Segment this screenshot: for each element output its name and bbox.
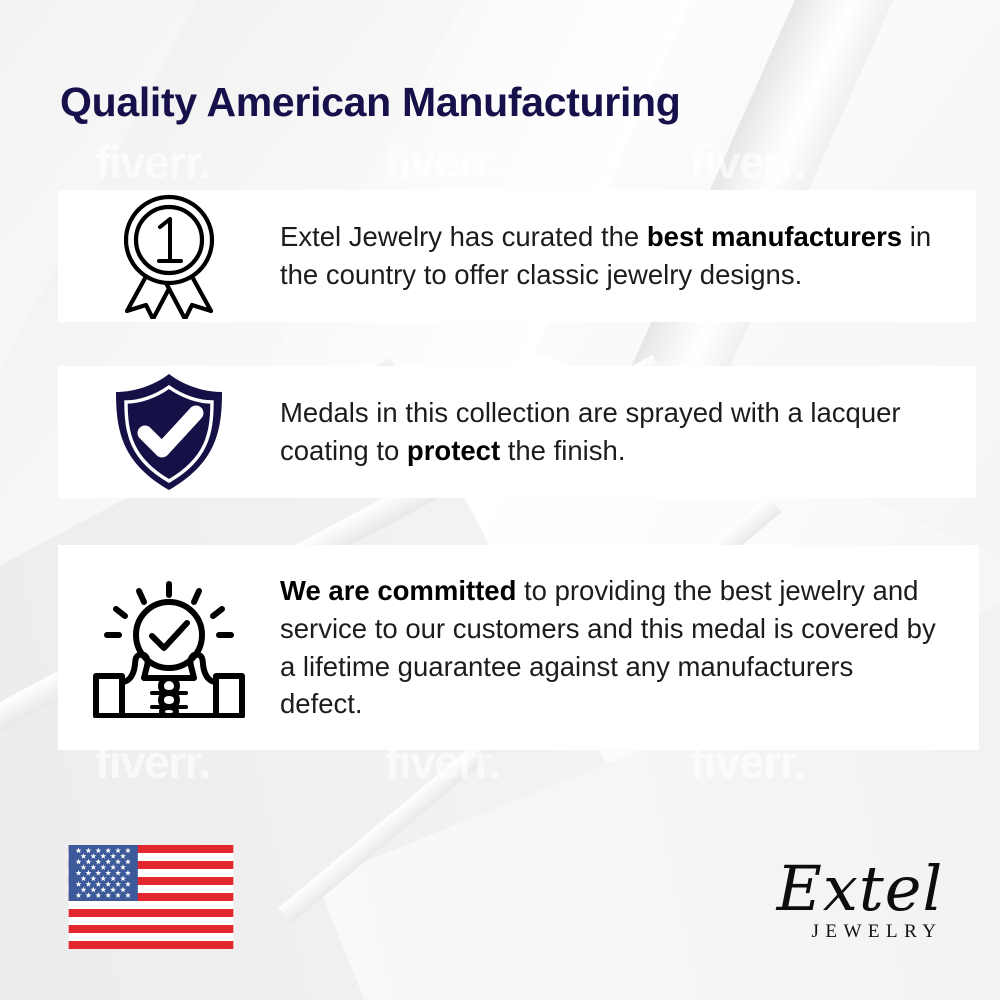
- feature-card-manufacturers: Extel Jewelry has curated the best manuf…: [58, 190, 976, 322]
- thumbs-up-approval-icon: [58, 578, 280, 718]
- feature-card-1-text: Extel Jewelry has curated the best manuf…: [280, 218, 976, 294]
- feature-card-protection: Medals in this collection are sprayed wi…: [58, 366, 976, 498]
- shield-check-icon: [58, 371, 280, 493]
- extel-jewelry-logo: Extel JEWELRY: [770, 860, 950, 943]
- award-ribbon-icon: [58, 193, 280, 319]
- usa-flag: [67, 845, 235, 949]
- logo-script-text: Extel: [770, 860, 950, 919]
- infographic-poster: fiverr.fiverr.fiverr.fiverr.fiverr.fiver…: [0, 0, 1000, 1000]
- page-title: Quality American Manufacturing: [60, 79, 681, 126]
- feature-card-2-text: Medals in this collection are sprayed wi…: [280, 394, 976, 470]
- feature-card-3-text: We are committed to providing the best j…: [280, 572, 979, 724]
- feature-card-commitment: We are committed to providing the best j…: [58, 545, 979, 750]
